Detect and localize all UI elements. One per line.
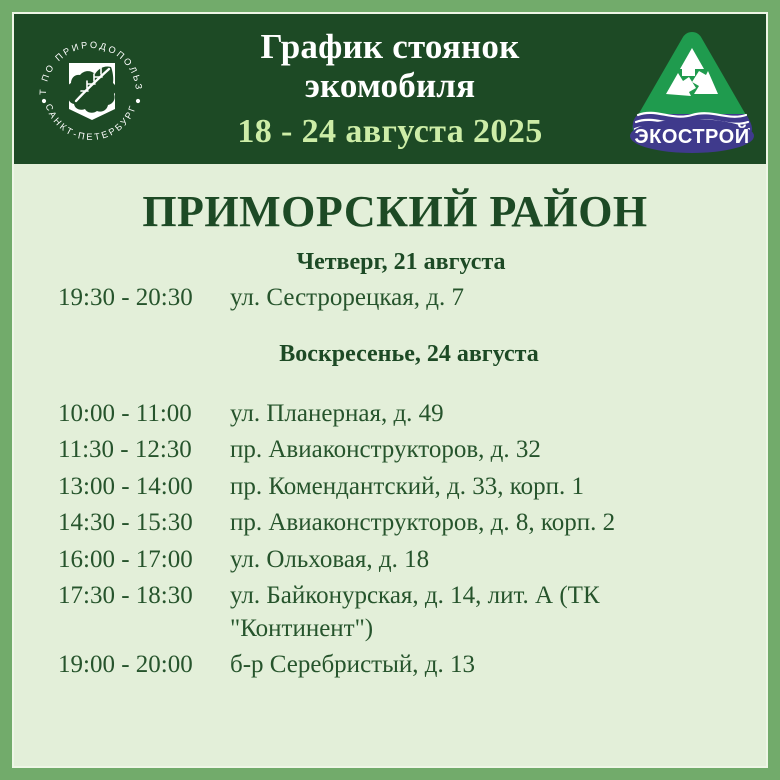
stop-time: 16:00 - 17:00 bbox=[58, 544, 230, 577]
schedule-body: ПРИМОРСКИЙ РАЙОН Четверг, 21 августа 19:… bbox=[14, 186, 766, 682]
stop-time: 19:30 - 20:30 bbox=[58, 282, 230, 315]
stop-address: ул. Планерная, д. 49 bbox=[230, 398, 685, 431]
table-row: 10:00 - 11:00 ул. Планерная, д. 49 bbox=[14, 398, 766, 431]
stop-time: 11:30 - 12:30 bbox=[58, 434, 230, 467]
table-row: 19:30 - 20:30 ул. Сестрорецкая, д. 7 bbox=[14, 282, 766, 315]
stop-time: 14:30 - 15:30 bbox=[58, 507, 230, 540]
stop-address: ул. Байконурская, д. 14, лит. А (ТК "Кон… bbox=[230, 580, 685, 645]
stop-time: 17:30 - 18:30 bbox=[58, 580, 230, 613]
stop-time: 10:00 - 11:00 bbox=[58, 398, 230, 431]
day-heading: Четверг, 21 августа bbox=[36, 249, 766, 276]
stop-list: 19:30 - 20:30 ул. Сестрорецкая, д. 7 bbox=[14, 282, 766, 315]
header-band: КОМИТЕТ ПО ПРИРОДОПОЛЬЗОВАНИЮ САНКТ-ПЕТЕ… bbox=[14, 14, 766, 164]
table-row: 16:00 - 17:00 ул. Ольховая, д. 18 bbox=[14, 544, 766, 577]
table-row: 17:30 - 18:30 ул. Байконурская, д. 14, л… bbox=[14, 580, 766, 645]
district-title: ПРИМОРСКИЙ РАЙОН bbox=[24, 186, 766, 237]
table-row: 11:30 - 12:30 пр. Авиаконструкторов, д. … bbox=[14, 434, 766, 467]
day-heading: Воскресенье, 24 августа bbox=[52, 341, 766, 368]
stop-address: ул. Ольховая, д. 18 bbox=[230, 544, 685, 577]
table-row: 19:00 - 20:00 б-р Серебристый, д. 13 bbox=[14, 649, 766, 682]
stop-address: пр. Авиаконструкторов, д. 32 bbox=[230, 434, 685, 467]
poster-date-range: 18 - 24 августа 2025 bbox=[180, 113, 600, 151]
poster-inner-frame: КОМИТЕТ ПО ПРИРОДОПОЛЬЗОВАНИЮ САНКТ-ПЕТЕ… bbox=[12, 12, 768, 768]
stop-time: 19:00 - 20:00 bbox=[58, 649, 230, 682]
day-block-sunday: Воскресенье, 24 августа 10:00 - 11:00 ул… bbox=[14, 341, 766, 682]
table-row: 13:00 - 14:00 пр. Комендантский, д. 33, … bbox=[14, 471, 766, 504]
ecostroy-wordmark: ЭКОСТРОЙ bbox=[634, 124, 749, 148]
stop-address: пр. Комендантский, д. 33, корп. 1 bbox=[230, 471, 685, 504]
stop-address: ул. Сестрорецкая, д. 7 bbox=[230, 282, 685, 315]
stop-list: 10:00 - 11:00 ул. Планерная, д. 49 11:30… bbox=[14, 398, 766, 682]
ecostroy-logo: ЭКОСТРОЙ bbox=[626, 22, 758, 158]
table-row: 14:30 - 15:30 пр. Авиаконструкторов, д. … bbox=[14, 507, 766, 540]
poster-title: График стоянок экомобиля bbox=[180, 27, 600, 105]
poster-root: КОМИТЕТ ПО ПРИРОДОПОЛЬЗОВАНИЮ САНКТ-ПЕТЕ… bbox=[0, 0, 780, 780]
committee-seal-logo: КОМИТЕТ ПО ПРИРОДОПОЛЬЗОВАНИЮ САНКТ-ПЕТЕ… bbox=[27, 23, 155, 155]
stop-address: пр. Авиаконструкторов, д. 8, корп. 2 bbox=[230, 507, 685, 540]
stop-address: б-р Серебристый, д. 13 bbox=[230, 649, 685, 682]
stop-time: 13:00 - 14:00 bbox=[58, 471, 230, 504]
day-block-thursday: Четверг, 21 августа 19:30 - 20:30 ул. Се… bbox=[14, 249, 766, 315]
header-title-block: График стоянок экомобиля 18 - 24 августа… bbox=[180, 27, 600, 151]
